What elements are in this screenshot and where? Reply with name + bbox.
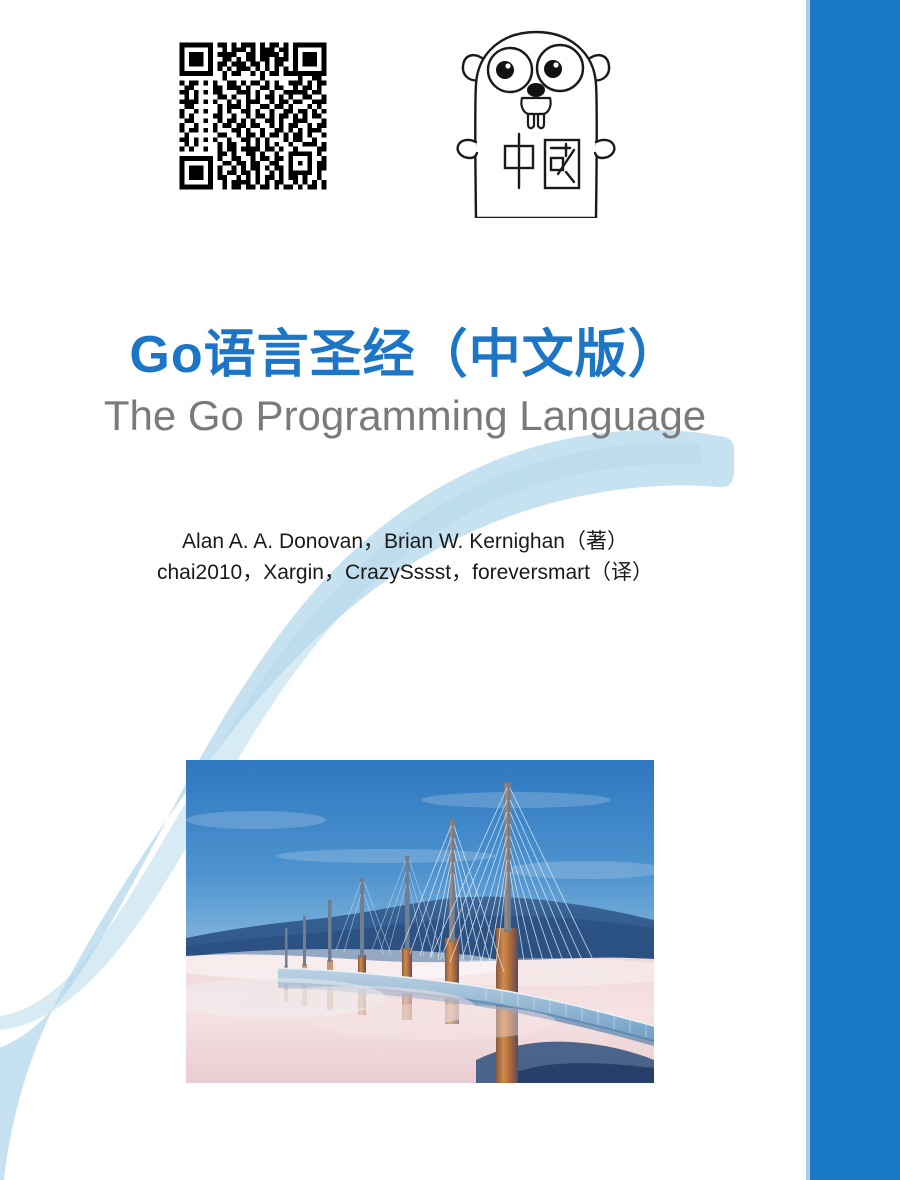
book-cover: Go语言圣经（中文版） The Go Programming Language … <box>0 0 900 1180</box>
millau-viaduct-photo <box>186 760 654 1083</box>
qr-code <box>175 27 331 205</box>
page-title-en: The Go Programming Language <box>0 392 810 440</box>
authors-line-original: Alan A. A. Donovan，Brian W. Kernighan（著） <box>0 526 810 557</box>
page-title-cn: Go语言圣经（中文版） <box>0 312 810 387</box>
go-gopher-mascot <box>448 22 624 218</box>
authors-block: Alan A. A. Donovan，Brian W. Kernighan（著）… <box>0 526 810 588</box>
authors-line-translators: chai2010，Xargin，CrazySssst，foreversmart（… <box>0 557 810 588</box>
github-url-bar[interactable]: http://github.com/golang-china/gopl-zh <box>810 0 900 1180</box>
